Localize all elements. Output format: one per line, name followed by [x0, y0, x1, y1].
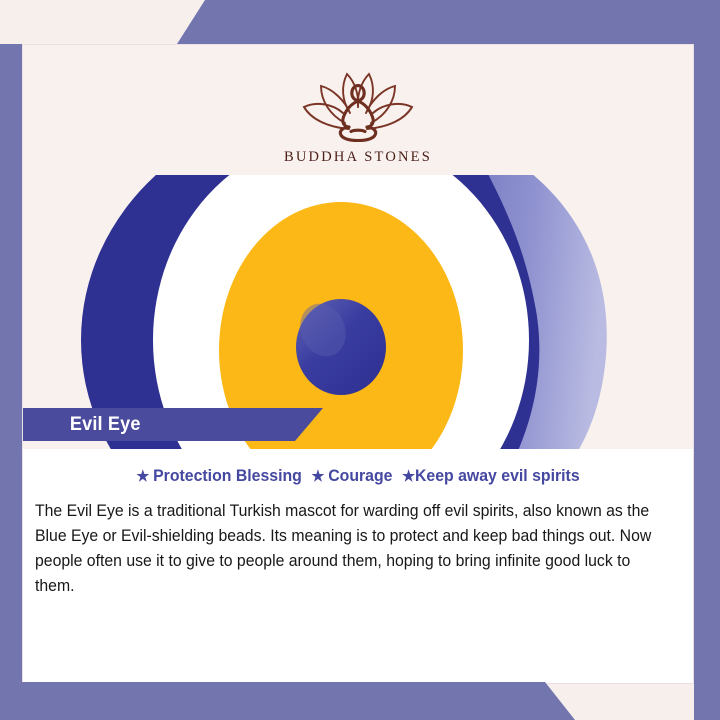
- frame-bottom-bar: [0, 682, 720, 720]
- star-icon: ★: [311, 468, 324, 485]
- content-panel: ★Protection Blessing★Courage★Keep away e…: [23, 449, 693, 683]
- hero-label-ribbon: Evil Eye: [23, 408, 323, 441]
- benefits-line: ★Protection Blessing★Courage★Keep away e…: [36, 467, 679, 486]
- evil-eye-graphic: [23, 175, 693, 490]
- infographic-page: BUDDHA STONES: [0, 0, 720, 720]
- frame-top-bar: [0, 0, 720, 44]
- benefit-item-2: Keep away evil spirits: [415, 467, 580, 485]
- frame-right-bar: [694, 0, 720, 720]
- benefit-item-1: Courage: [328, 467, 392, 485]
- star-icon: ★: [402, 468, 415, 485]
- benefit-item-0: Protection Blessing: [153, 467, 302, 485]
- frame-left-bar: [0, 44, 22, 684]
- brand-logo: BUDDHA STONES: [23, 67, 693, 166]
- hero-label-text: Evil Eye: [70, 414, 141, 436]
- evil-eye-illustration: [23, 175, 693, 490]
- description-text: The Evil Eye is a traditional Turkish ma…: [35, 499, 662, 599]
- card-background: BUDDHA STONES: [23, 45, 693, 683]
- brand-name: BUDDHA STONES: [23, 149, 693, 166]
- lotus-meditation-icon: [283, 67, 433, 145]
- star-icon: ★: [136, 468, 149, 485]
